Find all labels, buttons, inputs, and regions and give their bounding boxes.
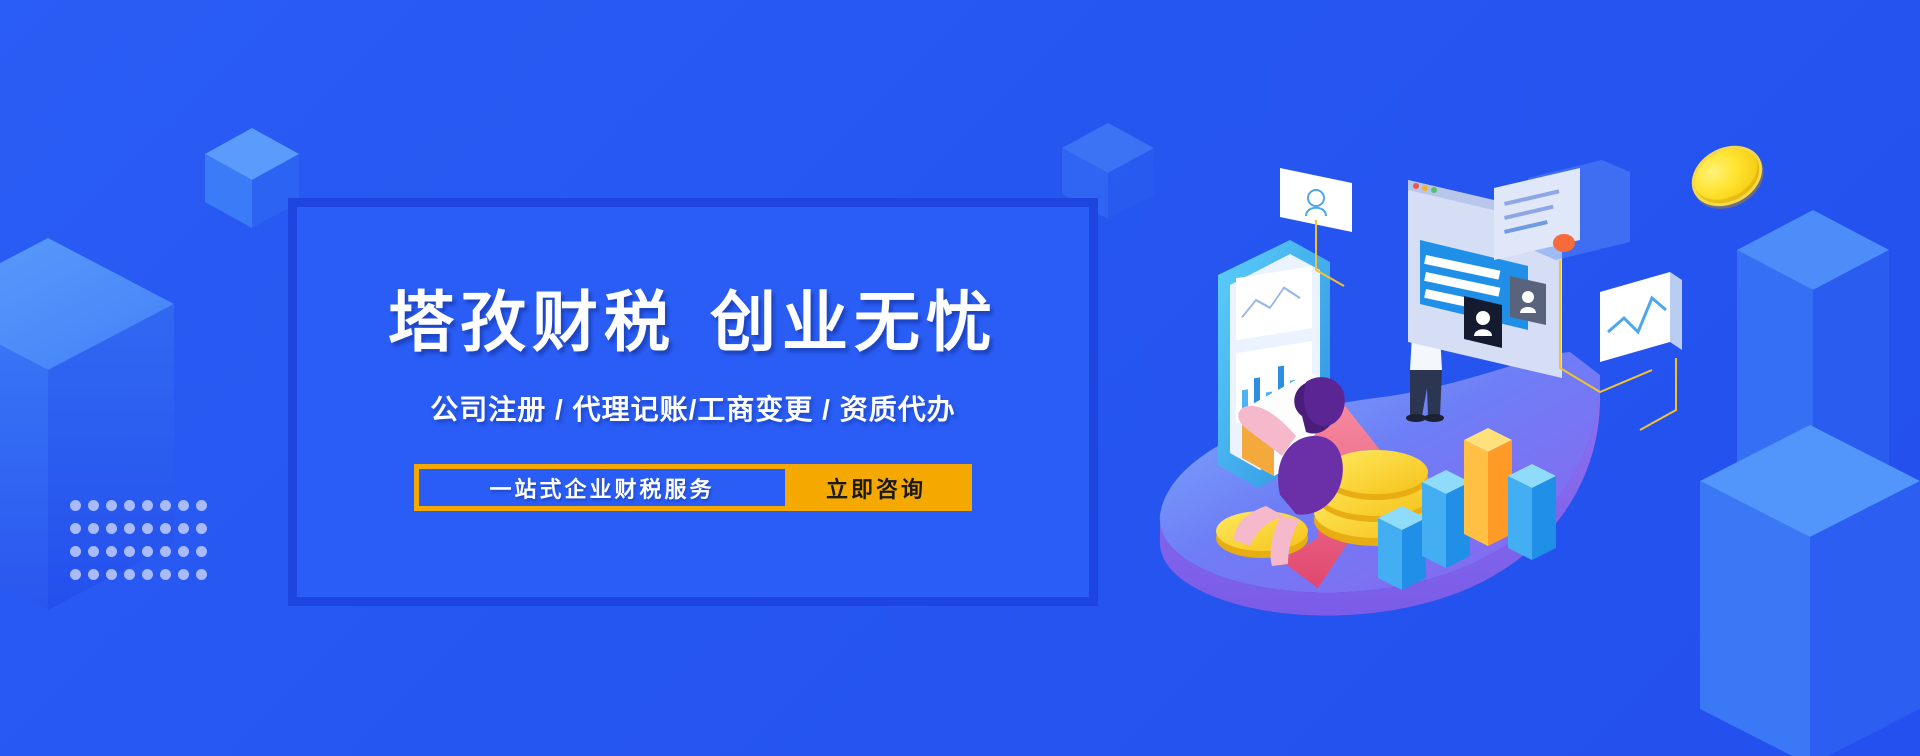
isometric-tower-left (0, 238, 174, 610)
gold-coin-icon-right (1681, 134, 1773, 218)
profile-card-gray (1510, 276, 1546, 325)
profile-card-dark (1464, 296, 1502, 348)
consult-now-button[interactable]: 立即咨询 (785, 469, 967, 506)
service-list-subtitle: 公司注册 / 代理记账/工商变更 / 资质代办 (430, 388, 955, 428)
isometric-tower-right-upper (1737, 210, 1889, 540)
isometric-cube-top-left (205, 128, 299, 228)
isometric-business-illustration (1130, 120, 1690, 640)
bar-4 (1508, 464, 1556, 560)
bar-1 (1378, 506, 1426, 590)
headline-frame: 塔孜财税创业无忧 公司注册 / 代理记账/工商变更 / 资质代办 一站式企业财税… (288, 198, 1098, 606)
title-part-2: 创业无忧 (710, 285, 998, 359)
floating-document-card (1494, 160, 1630, 260)
bar-2 (1422, 470, 1470, 568)
title-part-1: 塔孜财税 (388, 285, 676, 359)
headline-frame-inner: 塔孜财税创业无忧 公司注册 / 代理记账/工商变更 / 资质代办 一站式企业财税… (297, 207, 1089, 597)
page-title: 塔孜财税创业无忧 (388, 287, 998, 358)
cta-bar: 一站式企业财税服务 立即咨询 (414, 464, 972, 511)
bar-3-highlight (1464, 428, 1512, 546)
dot-grid-icon (70, 500, 214, 592)
cta-tagline: 一站式企业财税服务 (419, 469, 785, 506)
floating-line-chart-card (1600, 272, 1682, 362)
isometric-tower-right-lower (1700, 425, 1920, 756)
promo-banner: 塔孜财税创业无忧 公司注册 / 代理记账/工商变更 / 资质代办 一站式企业财税… (0, 0, 1920, 756)
